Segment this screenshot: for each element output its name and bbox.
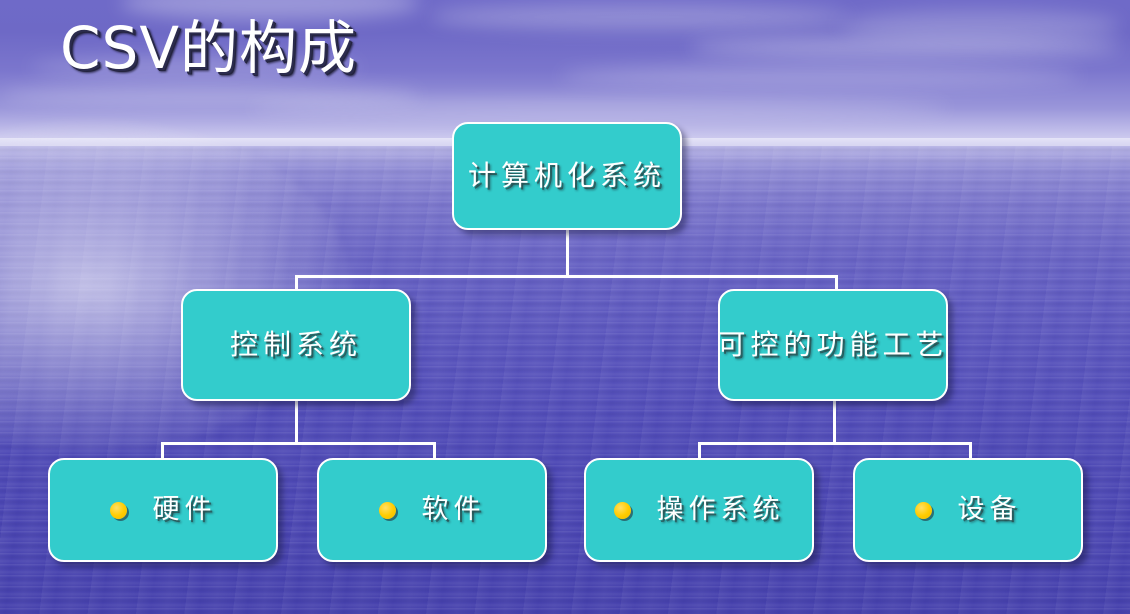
bullet-icon — [614, 502, 631, 519]
node-computerized-system[interactable]: 计算机化系统 — [452, 122, 682, 230]
bullet-icon — [110, 502, 127, 519]
node-label: 计算机化系统 — [468, 161, 666, 191]
node-label: 软件 — [422, 495, 486, 525]
node-content: 控制系统 — [224, 330, 368, 360]
node-content: 计算机化系统 — [462, 161, 672, 191]
node-software[interactable]: 软件 — [317, 458, 547, 562]
node-hardware[interactable]: 硬件 — [48, 458, 278, 562]
node-content: 软件 — [373, 495, 492, 525]
node-content: 操作系统 — [608, 495, 791, 525]
node-label: 操作系统 — [657, 495, 785, 525]
connector-function-stem — [833, 401, 836, 444]
node-content: 设备 — [909, 495, 1028, 525]
cloud-shape — [840, 10, 1120, 40]
connector-control-bus — [161, 442, 436, 445]
node-control-system[interactable]: 控制系统 — [181, 289, 411, 401]
node-content: 可控的功能工艺 — [712, 330, 955, 360]
node-label: 可控的功能工艺 — [718, 330, 949, 360]
node-controlled-function-process[interactable]: 可控的功能工艺 — [718, 289, 948, 401]
bullet-icon — [915, 502, 932, 519]
cloud-shape — [690, 36, 1120, 58]
connector-level1-bus — [295, 275, 838, 278]
presentation-slide: CSV的构成 计算机化系统 控制系统 可控的功能工艺 硬件 — [0, 0, 1130, 614]
bullet-icon — [379, 502, 396, 519]
node-equipment[interactable]: 设备 — [853, 458, 1083, 562]
node-label: 硬件 — [153, 495, 217, 525]
node-label: 设备 — [958, 495, 1022, 525]
cloud-shape — [430, 4, 850, 30]
cloud-shape — [560, 66, 1080, 86]
cloud-shape — [0, 86, 420, 106]
connector-function-bus — [698, 442, 972, 445]
node-label: 控制系统 — [230, 330, 362, 360]
node-operating-system[interactable]: 操作系统 — [584, 458, 814, 562]
node-content: 硬件 — [104, 495, 223, 525]
connector-control-stem — [295, 401, 298, 444]
connector-root-stem — [566, 230, 569, 277]
slide-title: CSV的构成 — [60, 12, 357, 84]
